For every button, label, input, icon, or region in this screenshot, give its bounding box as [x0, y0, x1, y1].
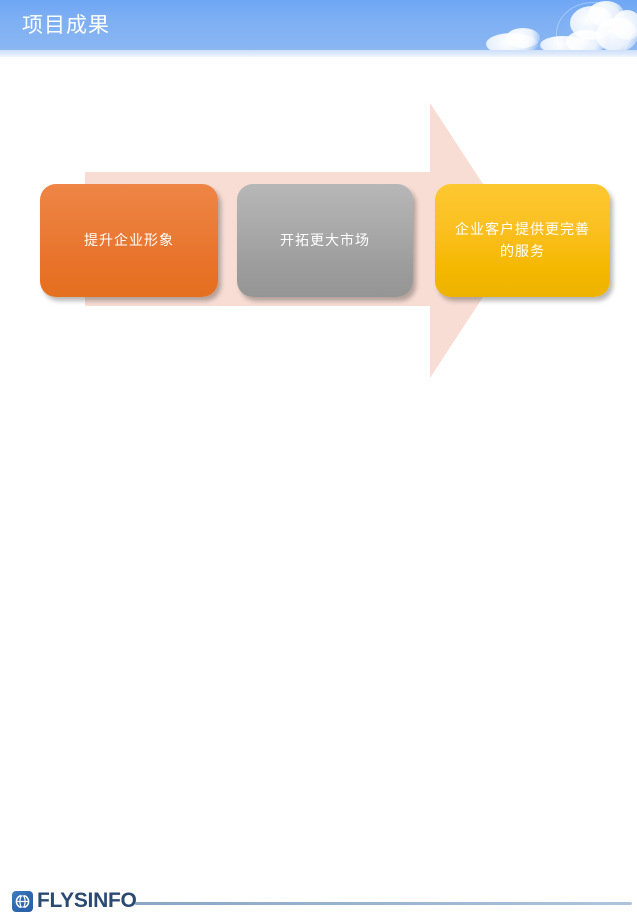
- box-expand-market-label: 开拓更大市场: [248, 230, 403, 252]
- box-enhance-image[interactable]: 提升企业形象: [40, 184, 218, 297]
- slide-footer: FLYSINFO: [0, 440, 637, 478]
- globe-icon: [12, 891, 33, 912]
- box-expand-market[interactable]: 开拓更大市场: [237, 184, 413, 297]
- box-better-service-label: 企业客户提供更完善的服务: [449, 219, 596, 263]
- footer-divider: [135, 902, 632, 905]
- box-enhance-image-label: 提升企业形象: [51, 230, 208, 252]
- box-better-service[interactable]: 企业客户提供更完善的服务: [435, 184, 610, 297]
- logo-text: FLYSINFO: [37, 888, 137, 914]
